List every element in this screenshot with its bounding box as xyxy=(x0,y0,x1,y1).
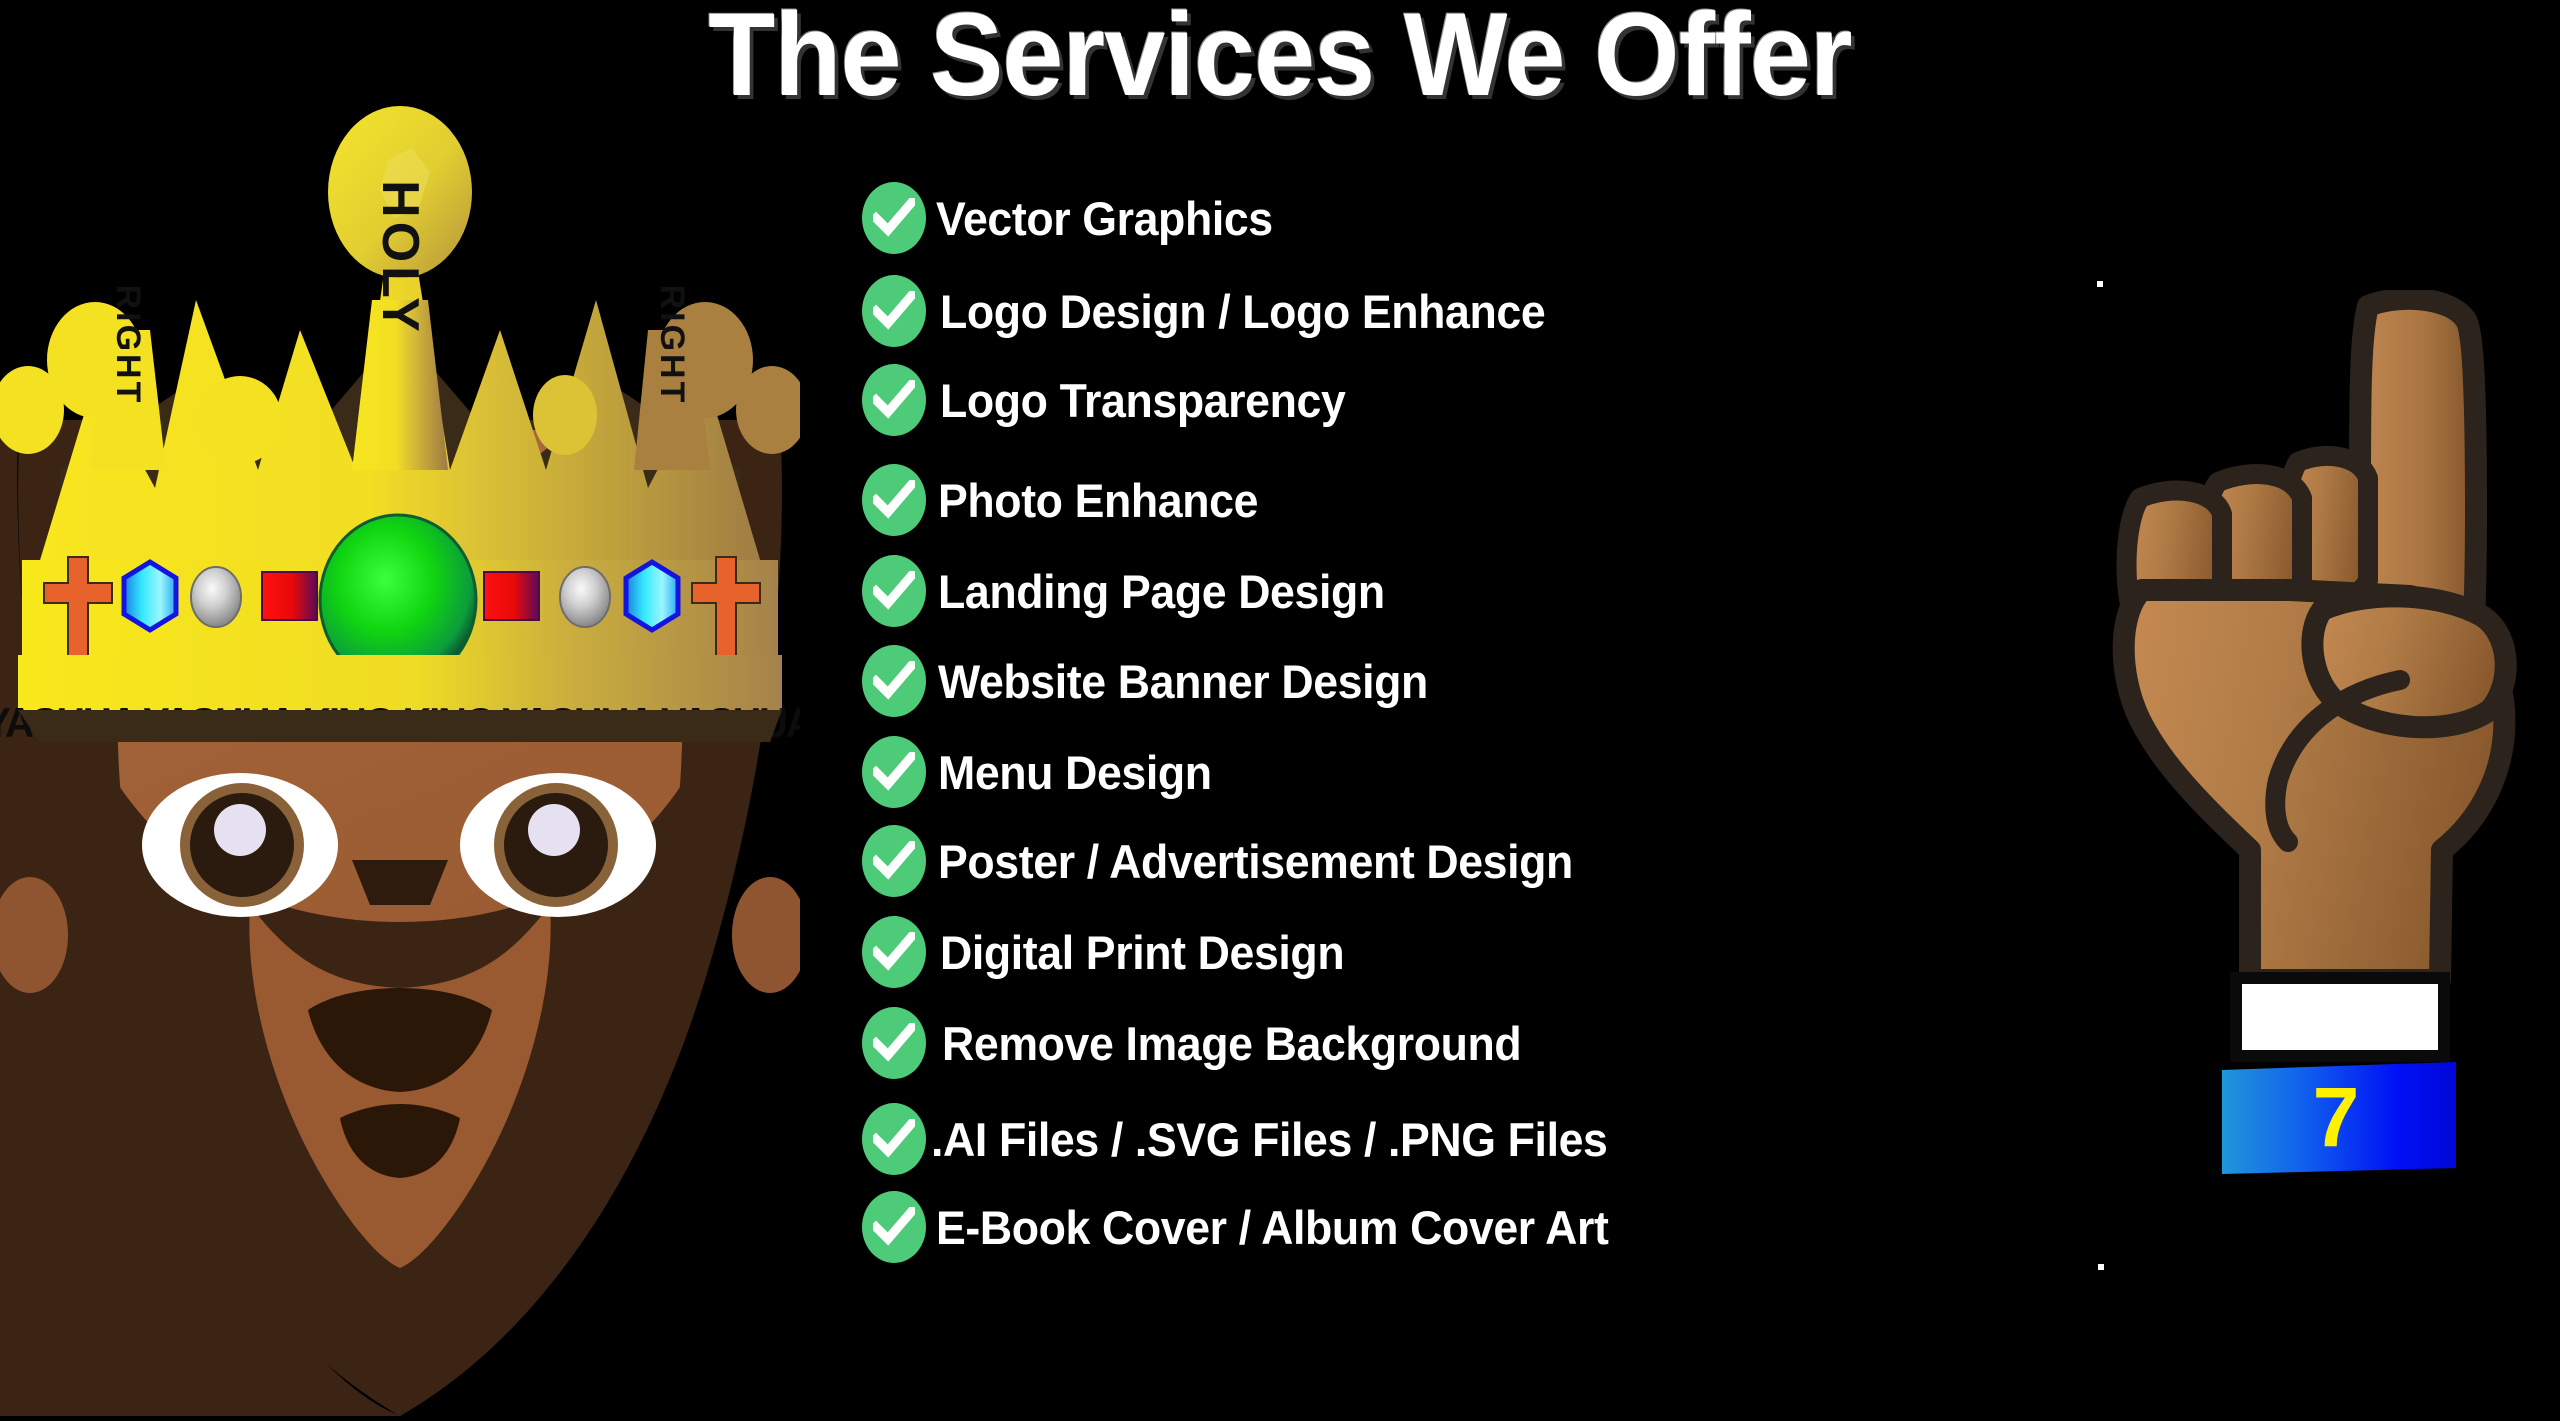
sphere-gem-icon xyxy=(560,567,610,627)
square-gem-icon xyxy=(484,572,539,620)
pixel-artifact xyxy=(2098,1264,2104,1270)
check-icon xyxy=(862,1007,926,1079)
check-icon xyxy=(862,1191,926,1263)
list-item[interactable]: Menu Design xyxy=(862,736,2042,808)
services-list: Vector Graphics Logo Design / Logo Enhan… xyxy=(862,182,2042,1263)
check-icon xyxy=(862,275,926,347)
crown-right-spike-text: RIGHT xyxy=(653,285,691,406)
check-icon xyxy=(862,825,926,897)
list-item[interactable]: .AI Files / .SVG Files / .PNG Files xyxy=(862,1103,2042,1175)
list-item[interactable]: Remove Image Background xyxy=(862,1007,2042,1079)
crown-center-spike-text: HOLY xyxy=(371,180,429,336)
pointing-up-hand-illustration: 7 xyxy=(2110,290,2560,1310)
list-item-label: Logo Transparency xyxy=(940,377,1345,424)
hand-cuff xyxy=(2236,978,2444,1056)
list-item-label: Photo Enhance xyxy=(938,477,1258,524)
sphere-gem-icon xyxy=(191,567,241,627)
crown-illustration: HOLY RIGHT RIGHT xyxy=(0,106,800,746)
pixel-artifact xyxy=(2097,281,2103,287)
list-item-label: Menu Design xyxy=(938,749,1212,796)
list-item-label: E-Book Cover / Album Cover Art xyxy=(936,1204,1609,1251)
list-item-label: Landing Page Design xyxy=(938,568,1385,615)
crowned-king-avatar-illustration: HOLY RIGHT RIGHT xyxy=(0,0,800,1416)
list-item-label: Poster / Advertisement Design xyxy=(938,838,1573,885)
check-icon xyxy=(862,555,926,627)
list-item[interactable]: Digital Print Design xyxy=(862,916,2042,988)
list-item[interactable]: E-Book Cover / Album Cover Art xyxy=(862,1191,2042,1263)
check-icon xyxy=(862,645,926,717)
crown-left-spike-text: RIGHT xyxy=(109,285,147,406)
check-icon xyxy=(862,916,926,988)
check-icon xyxy=(862,1103,926,1175)
list-item[interactable]: Photo Enhance xyxy=(862,464,2042,536)
square-gem-icon xyxy=(262,572,317,620)
list-item[interactable]: Logo Design / Logo Enhance xyxy=(862,275,2042,347)
list-item-label: Website Banner Design xyxy=(938,658,1428,705)
list-item-label: Vector Graphics xyxy=(936,195,1273,242)
list-item[interactable]: Landing Page Design xyxy=(862,555,2042,627)
list-item-label: Digital Print Design xyxy=(940,929,1344,976)
list-item-label: Logo Design / Logo Enhance xyxy=(940,288,1545,335)
list-item[interactable]: Logo Transparency xyxy=(862,364,2042,436)
list-item[interactable]: Website Banner Design xyxy=(862,645,2042,717)
check-icon xyxy=(862,736,926,808)
hexagon-gem-icon xyxy=(626,562,678,630)
hexagon-gem-icon xyxy=(124,562,176,630)
list-item-label: .AI Files / .SVG Files / .PNG Files xyxy=(931,1116,1608,1163)
list-item[interactable]: Vector Graphics xyxy=(862,182,2042,254)
list-item[interactable]: Poster / Advertisement Design xyxy=(862,825,2042,897)
check-icon xyxy=(862,364,926,436)
list-item-label: Remove Image Background xyxy=(942,1020,1521,1067)
check-icon xyxy=(862,182,926,254)
check-icon xyxy=(862,464,926,536)
wristband-number: 7 xyxy=(2313,1070,2360,1164)
wristband: 7 xyxy=(2222,1062,2456,1174)
